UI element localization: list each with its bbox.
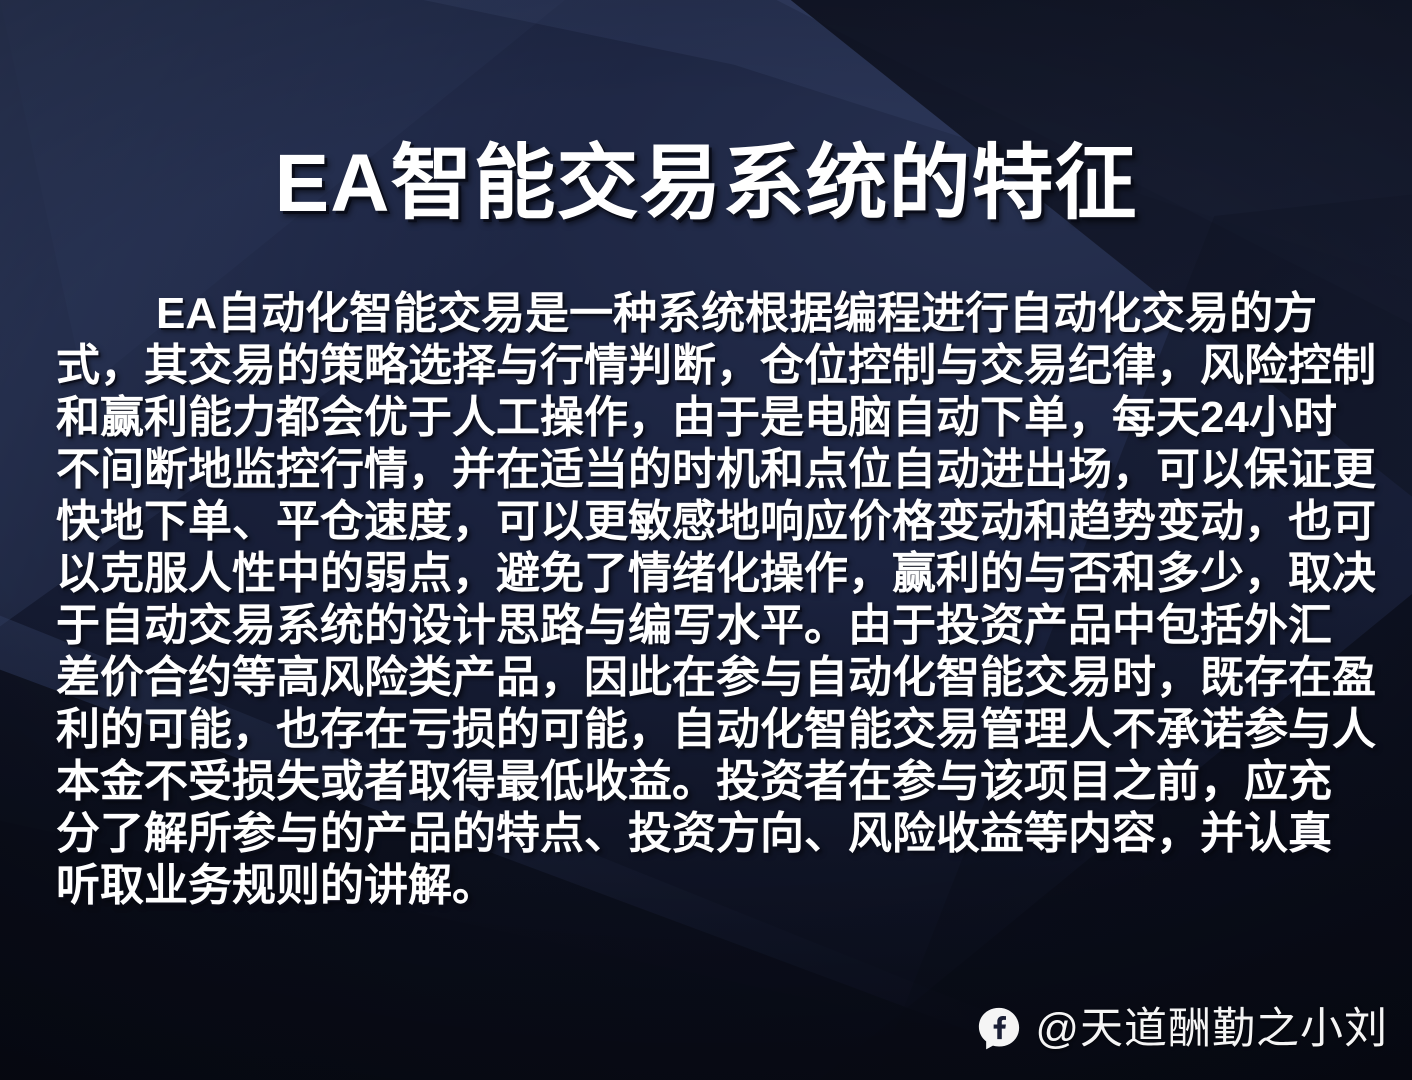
- slide-content: EA智能交易系统的特征 EA自动化智能交易是一种系统根据编程进行自动化交易的方 …: [0, 0, 1412, 1080]
- body-line: 利的可能，也存在亏损的可能，自动化智能交易管理人不承诺参与人: [56, 704, 1326, 756]
- watermark: @天道酬勤之小刘: [976, 1006, 1388, 1052]
- body-line: EA自动化智能交易是一种系统根据编程进行自动化交易的方: [56, 288, 1326, 340]
- body-line: 听取业务规则的讲解。: [56, 860, 1326, 912]
- body-line: 和赢利能力都会优于人工操作，由于是电脑自动下单，每天24小时: [56, 392, 1326, 444]
- page-title: EA智能交易系统的特征: [0, 141, 1412, 227]
- body-line: 分了解所参与的产品的特点、投资方向、风险收益等内容，并认真: [56, 808, 1326, 860]
- body-line: 于自动交易系统的设计思路与编写水平。由于投资产品中包括外汇: [56, 600, 1326, 652]
- body-line: 本金不受损失或者取得最低收益。投资者在参与该项目之前，应充: [56, 756, 1326, 808]
- body-line: 快地下单、平仓速度，可以更敏感地响应价格变动和趋势变动，也可: [56, 496, 1326, 548]
- body-line: 差价合约等高风险类产品，因此在参与自动化智能交易时，既存在盈: [56, 652, 1326, 704]
- body-paragraph: EA自动化智能交易是一种系统根据编程进行自动化交易的方 式，其交易的策略选择与行…: [56, 288, 1326, 912]
- facebook-bubble-icon: [976, 1006, 1022, 1052]
- body-line: 不间断地监控行情，并在适当的时机和点位自动进出场，可以保证更: [56, 444, 1326, 496]
- presentation-slide: EA智能交易系统的特征 EA自动化智能交易是一种系统根据编程进行自动化交易的方 …: [0, 0, 1412, 1080]
- body-line: 式，其交易的策略选择与行情判断，仓位控制与交易纪律，风险控制: [56, 340, 1326, 392]
- body-line: 以克服人性中的弱点，避免了情绪化操作，赢利的与否和多少，取决: [56, 548, 1326, 600]
- watermark-handle: @天道酬勤之小刘: [1035, 1008, 1388, 1051]
